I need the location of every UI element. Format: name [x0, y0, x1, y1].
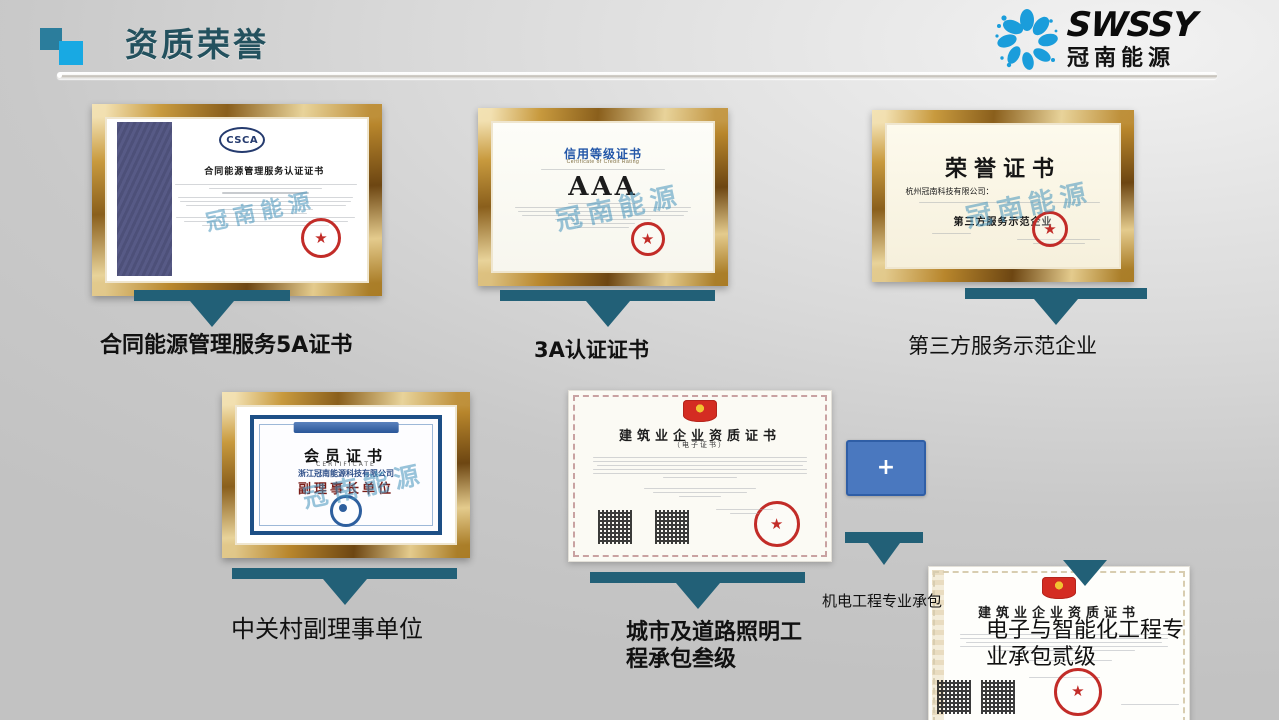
caption-mechanical: 机电工程专业承包 [822, 592, 942, 610]
certificate-aaa-red-seal [631, 222, 665, 256]
certificate-5a-red-seal [301, 218, 341, 258]
logo-brand-cn: 冠南能源 [1067, 47, 1196, 71]
certificate-5a-title: 合同能源管理服务认证证书 [169, 164, 359, 177]
certificate-lighting-issue-lines [716, 506, 774, 517]
certificate-honor-award: 第三方服务示范企业 [887, 213, 1119, 228]
arrow-cert-5a [134, 290, 290, 327]
national-emblem-icon [683, 400, 717, 422]
certificate-member-seal-ring [330, 495, 362, 527]
certificate-5a-frame[interactable]: CSCA 合同能源管理服务认证证书 冠南能源 [92, 104, 382, 296]
caption-cert-5a: 合同能源管理服务5A证书 [100, 333, 352, 360]
csca-emblem-icon: CSCA [219, 127, 265, 153]
company-logo: SWSSY 冠南能源 [993, 6, 1261, 76]
add-certificate-button[interactable]: + [846, 440, 926, 496]
certificate-lighting-frame[interactable]: 建筑业企业资质证书 （电子证书） [568, 390, 832, 562]
arrow-tip [676, 583, 720, 609]
caption-cert-member: 中关村副理事单位 [231, 615, 423, 644]
logo-text-block: SWSSY 冠南能源 [1067, 8, 1196, 71]
certificate-aaa-grade: AAA [493, 172, 713, 202]
arrow-cert-electronic [1040, 560, 1130, 586]
certificate-aaa-body-lines [515, 200, 691, 231]
certificate-electronic-qr-left [937, 680, 971, 714]
certificate-lighting-subtitle: （电子证书） [569, 440, 831, 450]
logo-brand-latin: SWSSY [1066, 8, 1198, 42]
caption-cert-electronic: 电子与智能化工程专 业承包贰级 [986, 618, 1184, 672]
certificate-electronic-date-line [1121, 701, 1178, 708]
arrow-cert-honor [965, 288, 1147, 325]
arrow-cert-member [232, 568, 457, 605]
arrow-bar [590, 572, 805, 583]
certificate-member-ribbon [294, 422, 399, 433]
arrow-bar [232, 568, 457, 579]
arrow-bar [845, 532, 923, 543]
water-droplet-mark-icon [993, 8, 1061, 74]
certificate-lighting-qr-left [598, 510, 632, 544]
certificate-honor-red-seal [1032, 211, 1068, 247]
certificate-lighting-qr-right [655, 510, 689, 544]
certificate-5a-side-band [117, 122, 172, 276]
page-title: 资质荣誉 [125, 18, 269, 66]
certificate-honor-paper: 荣誉证书 杭州冠南科技有限公司： 第三方服务示范企业 冠南能源 [885, 123, 1121, 269]
caption-cert-aaa: 3A认证证书 [534, 338, 649, 364]
arrow-bar [134, 290, 290, 301]
certificate-aaa-title-en: Certificate of Credit Rating [493, 159, 713, 165]
arrow-tip [586, 301, 630, 327]
caption-cert-honor: 第三方服务示范企业 [908, 334, 1097, 360]
certificate-electronic-qr-right [981, 680, 1015, 714]
arrow-cert-aaa [500, 290, 715, 327]
certificate-lighting-fields [593, 454, 808, 500]
arrow-cert-lighting [590, 572, 805, 609]
arrow-tip [190, 301, 234, 327]
arrow-bar [500, 290, 715, 301]
arrow-tip [1034, 299, 1078, 325]
certificate-aaa-frame[interactable]: 信用等级证书 Certificate of Credit Rating AAA … [478, 108, 728, 286]
arrow-tip [323, 579, 367, 605]
arrow-tip [868, 543, 900, 565]
slide-canvas: 资质荣誉 SWSSY 冠南能源 [0, 0, 1279, 720]
arrow-tip [1063, 560, 1107, 586]
certificate-honor-title: 荣誉证书 [887, 151, 1119, 183]
certificate-electronic-red-seal [1054, 668, 1102, 716]
certificate-honor-frame[interactable]: 荣誉证书 杭州冠南科技有限公司： 第三方服务示范企业 冠南能源 [872, 110, 1134, 282]
certificate-honor-recipient: 杭州冠南科技有限公司： [906, 186, 994, 197]
certificate-honor-body-lines [919, 199, 1100, 206]
certificate-5a-paper: CSCA 合同能源管理服务认证证书 冠南能源 [105, 117, 369, 283]
certificate-member-frame[interactable]: 会员证书 CERTIFICATE 浙江冠南能源科技有限公司 副理事长单位 冠南能… [222, 392, 470, 558]
certificate-aaa-paper: 信用等级证书 Certificate of Credit Rating AAA … [491, 121, 715, 273]
arrow-bar [965, 288, 1147, 299]
arrow-mechanical-label [845, 532, 923, 565]
certificate-member-paper: 会员证书 CERTIFICATE 浙江冠南能源科技有限公司 副理事长单位 冠南能… [235, 405, 457, 545]
caption-cert-lighting: 城市及道路照明工 程承包叁级 [626, 620, 802, 674]
header-square-cyan [59, 41, 83, 65]
certificate-honor-note-lines [906, 230, 999, 237]
